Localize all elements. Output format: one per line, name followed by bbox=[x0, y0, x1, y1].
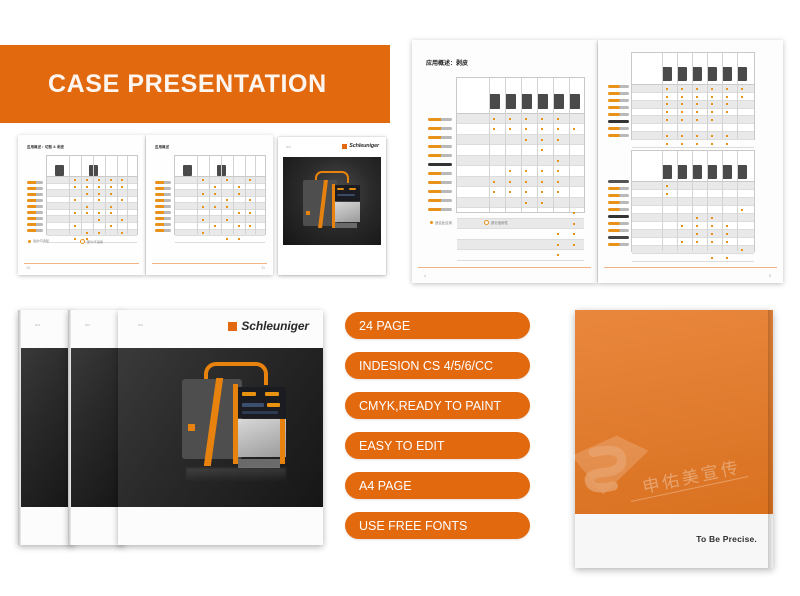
row-label-chip bbox=[155, 205, 171, 208]
row-label-chip bbox=[155, 187, 171, 190]
row-label-chip bbox=[155, 181, 171, 184]
table-row bbox=[632, 230, 754, 238]
feature-pill[interactable]: A4 PAGE bbox=[345, 472, 530, 499]
feature-pill-label: USE FREE FONTS bbox=[345, 519, 467, 533]
legend-secondary: 部分/不适用 bbox=[80, 239, 103, 244]
table-row bbox=[632, 116, 754, 124]
row-label-chip bbox=[608, 194, 629, 197]
row-label-chip bbox=[428, 181, 452, 184]
brochure-spine bbox=[68, 310, 71, 545]
table-row bbox=[632, 109, 754, 117]
spread-small-right-heading: 应用概述 bbox=[155, 144, 273, 149]
row-label-chip bbox=[27, 187, 43, 190]
brochure-stack-back[interactable]: CN bbox=[18, 310, 74, 545]
language-tag: CN bbox=[35, 323, 40, 327]
spread-small-preview[interactable]: 应用概述：切割 & 剥皮 bbox=[18, 135, 273, 275]
brand-square-icon bbox=[342, 144, 347, 149]
spread-large-heading: 应用概述：剥皮 bbox=[426, 58, 597, 67]
legend-primary: 适合/可选配 bbox=[28, 239, 49, 243]
legend-primary: 适合此应用 bbox=[430, 220, 452, 225]
brand-tagline: To Be Precise. bbox=[696, 534, 757, 544]
brochure-photo-band bbox=[68, 348, 124, 508]
language-tag: CN bbox=[138, 323, 143, 327]
row-label-chip bbox=[27, 199, 43, 202]
comparison-table bbox=[631, 150, 755, 252]
legend-primary-label: 适合/可选配 bbox=[33, 239, 49, 243]
row-label-chip bbox=[428, 127, 452, 130]
feature-pill-label: 24 PAGE bbox=[345, 319, 410, 333]
row-label-chip bbox=[27, 211, 43, 214]
legend-secondary-label: 部分适用性 bbox=[491, 220, 508, 225]
row-label-chip bbox=[27, 229, 43, 232]
table-header-row bbox=[632, 151, 754, 182]
row-label-chip bbox=[608, 120, 629, 123]
machine-accent bbox=[332, 184, 335, 228]
feature-pill-label: A4 PAGE bbox=[345, 479, 412, 493]
product-thumb-icon bbox=[662, 67, 672, 81]
table-row bbox=[632, 124, 754, 132]
title-banner: CASE PRESENTATION bbox=[0, 45, 390, 123]
machine-badge bbox=[188, 424, 195, 431]
row-label-chip bbox=[155, 223, 171, 226]
brochure-bottom-band bbox=[68, 507, 124, 545]
table-row bbox=[632, 182, 754, 190]
machine-reflection bbox=[186, 468, 286, 482]
row-label-chip bbox=[428, 172, 452, 175]
table-row bbox=[632, 101, 754, 109]
table-row bbox=[632, 206, 754, 214]
row-label-chip bbox=[608, 99, 629, 102]
orange-cover[interactable]: 申佑美宣传 To Be Precise. bbox=[575, 310, 773, 568]
feature-pill-label: EASY TO EDIT bbox=[345, 439, 444, 453]
table-row bbox=[457, 229, 584, 240]
table-row bbox=[632, 140, 754, 148]
product-thumb-icon bbox=[537, 94, 548, 109]
spread-large-preview[interactable]: 应用概述：剥皮 bbox=[412, 40, 784, 283]
machine-foot bbox=[335, 223, 357, 228]
brand-name: Schleuniger bbox=[349, 143, 379, 149]
product-thumb-icon bbox=[737, 165, 747, 179]
row-label-chip bbox=[155, 199, 171, 202]
row-label-chip bbox=[27, 223, 43, 226]
legend-primary-label: 适合此应用 bbox=[435, 220, 452, 225]
product-thumb-icon bbox=[677, 67, 687, 81]
row-label-chip bbox=[428, 145, 452, 148]
row-label-chip bbox=[155, 217, 171, 220]
product-photo-page[interactable]: CN Schleuniger bbox=[278, 137, 386, 275]
product-thumb-icon bbox=[692, 165, 702, 179]
row-label-chip bbox=[608, 127, 629, 130]
row-label-chip bbox=[428, 154, 452, 157]
table-row bbox=[632, 246, 754, 254]
row-label-chip bbox=[27, 205, 43, 208]
product-photo bbox=[283, 157, 381, 245]
brochure-photo-band bbox=[18, 348, 74, 508]
row-label-chip bbox=[428, 118, 452, 121]
table-row bbox=[457, 240, 584, 251]
table-row bbox=[632, 190, 754, 198]
comparison-table bbox=[174, 155, 266, 235]
table-row bbox=[632, 214, 754, 222]
legend-secondary-label: 部分/不适用 bbox=[87, 240, 103, 244]
row-label-chip bbox=[608, 187, 629, 190]
page-number: 4 bbox=[424, 274, 426, 278]
product-thumb-icon bbox=[89, 165, 98, 176]
page-title: CASE PRESENTATION bbox=[0, 70, 327, 99]
product-thumb-icon bbox=[183, 165, 192, 176]
feature-pill[interactable]: CMYK,READY TO PAINT bbox=[345, 392, 530, 419]
watermark-rule bbox=[631, 476, 749, 502]
table-row bbox=[457, 219, 584, 230]
row-label-chip bbox=[428, 136, 452, 139]
brochure-photo-band bbox=[118, 348, 323, 508]
comparison-table bbox=[456, 77, 585, 213]
feature-pill-label: INDESION CS 4/5/6/CC bbox=[345, 359, 493, 373]
table-row bbox=[175, 236, 265, 243]
row-label-chip bbox=[608, 215, 629, 218]
brand-logo: Schleuniger bbox=[342, 143, 379, 149]
product-thumb-icon bbox=[737, 67, 747, 81]
spread-small-right-page[interactable]: 应用概述 bbox=[146, 135, 273, 275]
table-row bbox=[632, 222, 754, 230]
product-thumb-icon bbox=[521, 94, 532, 109]
row-label-chip bbox=[27, 193, 43, 196]
machine-screen bbox=[237, 387, 286, 418]
language-tag: CN bbox=[85, 323, 90, 327]
comparison-table bbox=[46, 155, 138, 235]
row-label-chip bbox=[155, 193, 171, 196]
brochure-top-band: CN bbox=[68, 310, 124, 348]
machine-accent bbox=[233, 384, 238, 464]
product-thumb-icon bbox=[692, 67, 702, 81]
product-thumb-icon bbox=[55, 165, 64, 176]
legend-secondary: 部分适用性 bbox=[484, 220, 508, 225]
cover-spine-shadow bbox=[768, 310, 773, 568]
row-label-chip bbox=[608, 243, 629, 246]
feature-pill[interactable]: USE FREE FONTS bbox=[345, 512, 530, 539]
product-thumb-icon bbox=[489, 94, 500, 109]
machine-screen bbox=[334, 185, 360, 201]
row-label-chip bbox=[608, 85, 629, 88]
page-number: 5 bbox=[769, 274, 771, 278]
table-row bbox=[632, 93, 754, 101]
brochure-bottom-band bbox=[18, 507, 74, 545]
feature-list: 24 PAGE INDESION CS 4/5/6/CC CMYK,READY … bbox=[345, 312, 530, 552]
row-label-chip bbox=[155, 211, 171, 214]
row-label-chip bbox=[428, 190, 452, 193]
comparison-table bbox=[631, 52, 755, 140]
row-label-chip bbox=[608, 201, 629, 204]
row-label-chip bbox=[428, 199, 452, 202]
watermark-s-logo-icon bbox=[567, 434, 653, 496]
table-row bbox=[632, 85, 754, 93]
table-header-row bbox=[47, 156, 137, 177]
machine-panel bbox=[237, 419, 286, 457]
feature-pill[interactable]: 24 PAGE bbox=[345, 312, 530, 339]
table-header-row bbox=[175, 156, 265, 177]
product-page-topbar: CN Schleuniger bbox=[278, 137, 386, 157]
row-label-chip bbox=[608, 113, 629, 116]
row-label-chip bbox=[608, 222, 629, 225]
brochure-bottom-band bbox=[118, 507, 323, 545]
feature-pill-label: CMYK,READY TO PAINT bbox=[345, 399, 501, 413]
brochure-top-band: CN bbox=[18, 310, 74, 348]
brand-name: Schleuniger bbox=[241, 319, 309, 333]
product-thumb-icon bbox=[505, 94, 516, 109]
language-tag: CN bbox=[286, 145, 291, 149]
product-thumb-icon bbox=[707, 67, 717, 81]
row-label-chip bbox=[27, 181, 43, 184]
row-label-chip bbox=[27, 217, 43, 220]
spread-large-left-page[interactable]: 应用概述：剥皮 bbox=[412, 40, 597, 283]
product-thumb-icon bbox=[569, 94, 580, 109]
watermark-text: 申佑美宣传 bbox=[640, 453, 743, 498]
row-label-chip bbox=[608, 134, 629, 137]
product-thumb-icon bbox=[707, 165, 717, 179]
table-row bbox=[632, 198, 754, 206]
feature-pill[interactable]: EASY TO EDIT bbox=[345, 432, 530, 459]
spread-large-right-page[interactable]: 5 bbox=[598, 40, 783, 283]
row-label-chip bbox=[155, 229, 171, 232]
row-label-chip bbox=[428, 163, 452, 166]
machine-foot bbox=[238, 459, 280, 468]
brochure-front-cover[interactable]: CN Schleuniger bbox=[118, 310, 323, 545]
product-thumb-icon bbox=[217, 165, 226, 176]
row-label-chip bbox=[608, 180, 629, 183]
table-row bbox=[632, 238, 754, 246]
brand-square-icon bbox=[228, 322, 237, 331]
feature-pill[interactable]: INDESION CS 4/5/6/CC bbox=[345, 352, 530, 379]
table-row bbox=[457, 250, 584, 261]
spread-small-left-heading: 应用概述：切割 & 剥皮 bbox=[27, 144, 145, 149]
row-label-chip bbox=[608, 92, 629, 95]
spread-small-left-page[interactable]: 应用概述：切割 & 剥皮 bbox=[18, 135, 145, 275]
row-label-chip bbox=[428, 208, 452, 211]
page-number: 10 bbox=[26, 266, 30, 270]
table-row bbox=[632, 132, 754, 140]
product-thumb-icon bbox=[677, 165, 687, 179]
machine-panel bbox=[334, 202, 360, 222]
brochure-top-band: CN Schleuniger bbox=[118, 310, 323, 348]
cover-color-field: 申佑美宣传 bbox=[575, 310, 773, 514]
brochure-stack-middle[interactable]: CN bbox=[68, 310, 124, 545]
table-row bbox=[632, 254, 754, 262]
machine-badge bbox=[306, 211, 310, 215]
product-thumb-icon bbox=[722, 165, 732, 179]
row-label-chip bbox=[608, 236, 629, 239]
brochure-spine bbox=[18, 310, 21, 545]
page-number: 11 bbox=[261, 266, 265, 270]
product-thumb-icon bbox=[553, 94, 564, 109]
table-header-row bbox=[632, 53, 754, 85]
row-label-chip bbox=[608, 106, 629, 109]
row-label-chip bbox=[608, 208, 629, 211]
product-thumb-icon bbox=[662, 165, 672, 179]
machine-accent bbox=[280, 419, 285, 464]
product-thumb-icon bbox=[722, 67, 732, 81]
brand-logo: Schleuniger bbox=[228, 319, 309, 333]
row-label-chip bbox=[608, 229, 629, 232]
